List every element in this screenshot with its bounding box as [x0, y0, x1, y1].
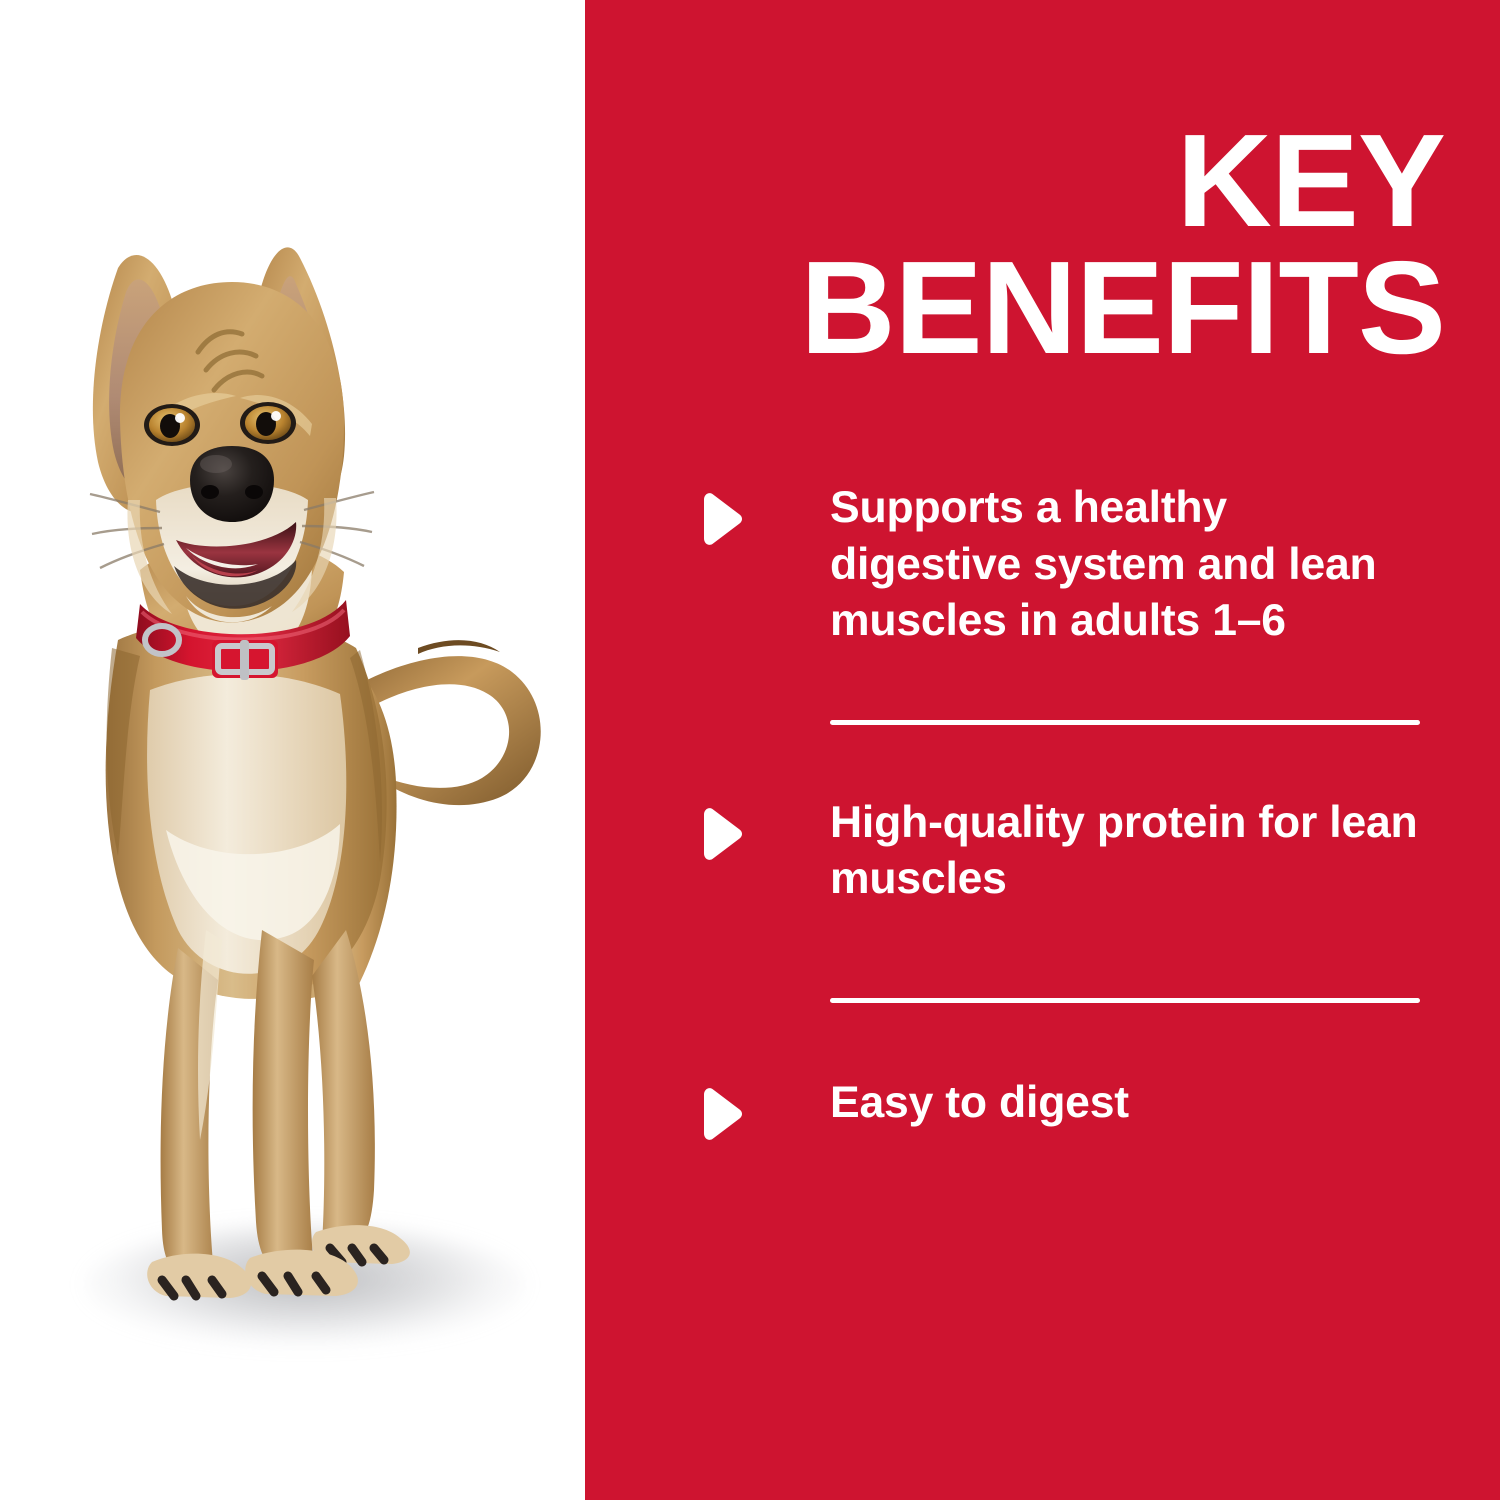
play-triangle-icon	[697, 492, 745, 546]
bullet-wrap-3	[697, 1075, 830, 1141]
bullet-wrap-1	[697, 480, 830, 546]
play-triangle-icon	[697, 1087, 745, 1141]
photo-panel	[0, 0, 585, 1500]
bullet-wrap-2	[697, 795, 830, 861]
key-benefits-poster: KEY BENEFITS Supports a healthy digestiv…	[0, 0, 1500, 1500]
play-triangle-icon	[697, 807, 745, 861]
benefit-text-2: High-quality protein for lean muscles	[830, 795, 1430, 908]
spacer-3	[697, 908, 1442, 998]
page-title: KEY BENEFITS	[585, 118, 1445, 371]
benefit-item-1: Supports a healthy digestive system and …	[697, 480, 1442, 650]
benefit-item-3: Easy to digest	[697, 1075, 1442, 1141]
benefit-item-2: High-quality protein for lean muscles	[697, 795, 1442, 908]
benefits-panel: KEY BENEFITS Supports a healthy digestiv…	[585, 0, 1500, 1500]
benefit-text-1: Supports a healthy digestive system and …	[830, 480, 1430, 650]
spacer-4	[697, 1003, 1442, 1075]
spacer-2	[697, 725, 1442, 795]
benefit-list: Supports a healthy digestive system and …	[697, 480, 1442, 1141]
benefit-text-3: Easy to digest	[830, 1075, 1430, 1132]
spacer-1	[697, 650, 1442, 720]
title-line-1: KEY	[585, 118, 1445, 245]
dog-photo	[0, 0, 585, 1500]
title-line-2: BENEFITS	[585, 245, 1445, 372]
dog-illustration	[0, 0, 585, 1500]
dog-legs	[147, 930, 410, 1298]
